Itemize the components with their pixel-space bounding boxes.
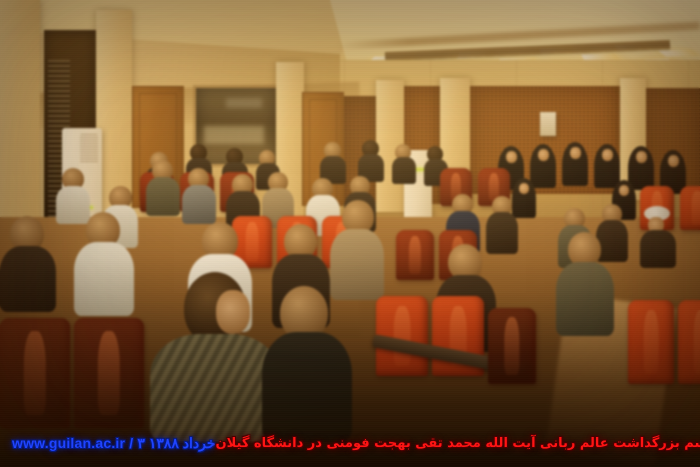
attendee (330, 200, 384, 300)
seat (680, 186, 700, 230)
seat (678, 300, 700, 384)
attendee (556, 232, 614, 336)
attendee (0, 216, 56, 312)
ac-grille (80, 134, 98, 164)
attendee-cleric (640, 206, 676, 268)
attendee (146, 160, 180, 216)
photograph: www.guilan.ac.ir / ۳ خرداد ۱۳۸۸ مراسم بز… (0, 0, 700, 467)
seat-row-foreground-left (0, 318, 144, 428)
auditorium-scene (0, 0, 700, 467)
wall-pillar-far-left (0, 0, 40, 250)
attendee-foreground (150, 272, 280, 442)
attendee-foreground (262, 286, 352, 442)
attendee (74, 212, 134, 316)
attendee-chador (562, 142, 588, 186)
seat-row-foreground-aisle (488, 308, 536, 384)
seat-row-foreground-far-right (628, 300, 700, 384)
seat (396, 230, 434, 280)
seat (628, 300, 674, 384)
wall-speaker (540, 112, 556, 136)
seat (74, 318, 144, 428)
attendee (182, 168, 216, 224)
attendee (392, 144, 416, 184)
booth-interior-glow (204, 126, 264, 144)
booth-equipment (226, 98, 262, 108)
seat (0, 318, 70, 428)
seat (488, 308, 536, 384)
